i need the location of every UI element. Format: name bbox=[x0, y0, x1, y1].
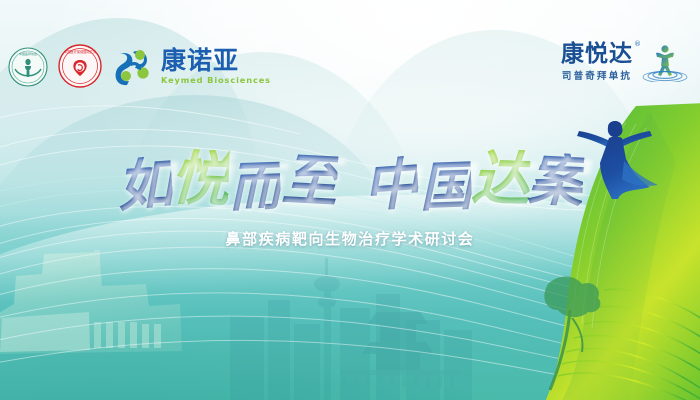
registered-mark-icon: ® bbox=[634, 41, 642, 48]
keymed-logo: 康诺亚 Keymed Biosciences bbox=[114, 46, 271, 86]
logo-bar: 中国医师协会 中国医疗保健国际交流 bbox=[0, 0, 700, 104]
title-phrase-2: 中 国 达 案 bbox=[363, 155, 583, 211]
title-char: 案 bbox=[527, 152, 585, 211]
svg-text:中国医疗保健国际交流: 中国医疗保健国际交流 bbox=[64, 49, 97, 54]
title-char: 国 bbox=[419, 160, 473, 214]
city-skyline-silhouette bbox=[190, 250, 490, 400]
building-silhouette bbox=[0, 246, 184, 374]
title-phrase-1: 如 悦 而 至 bbox=[117, 155, 337, 211]
kangyueda-name-cn: 康悦达 ® bbox=[561, 43, 633, 66]
main-title: 如 悦 而 至 中 国 达 案 bbox=[0, 128, 700, 238]
keymed-logo-text: 康诺亚 Keymed Biosciences bbox=[161, 48, 271, 84]
subtitle: 鼻部疾病靶向生物治疗学术研讨会 bbox=[0, 228, 700, 249]
title-char: 至 bbox=[281, 152, 339, 211]
kangyueda-generic-name: 司普奇拜单抗 bbox=[561, 72, 633, 82]
kangyueda-logo: 康悦达 ® 司普奇拜单抗 bbox=[561, 42, 688, 82]
title-char: 如 bbox=[115, 155, 174, 215]
keymed-name-en: Keymed Biosciences bbox=[161, 76, 271, 84]
title-char: 悦 bbox=[169, 148, 229, 209]
title-char: 中 bbox=[361, 155, 420, 215]
kangyueda-figure-mark bbox=[642, 42, 688, 82]
title-char: 而 bbox=[228, 160, 282, 214]
keymed-logo-mark bbox=[114, 46, 154, 86]
medical-association-emblem: 中国医师协会 bbox=[8, 47, 48, 87]
conference-poster: 中国医师协会 中国医疗保健国际交流 bbox=[0, 0, 700, 400]
svg-text:中国医师协会: 中国医师协会 bbox=[19, 51, 37, 56]
hospital-emblem: 中国医疗保健国际交流 bbox=[58, 44, 102, 88]
kangyueda-logo-text: 康悦达 ® 司普奇拜单抗 bbox=[561, 43, 633, 82]
title-char: 达 bbox=[470, 148, 530, 209]
keymed-name-cn: 康诺亚 bbox=[161, 48, 271, 73]
kangyueda-name-cn-text: 康悦达 bbox=[561, 41, 633, 67]
